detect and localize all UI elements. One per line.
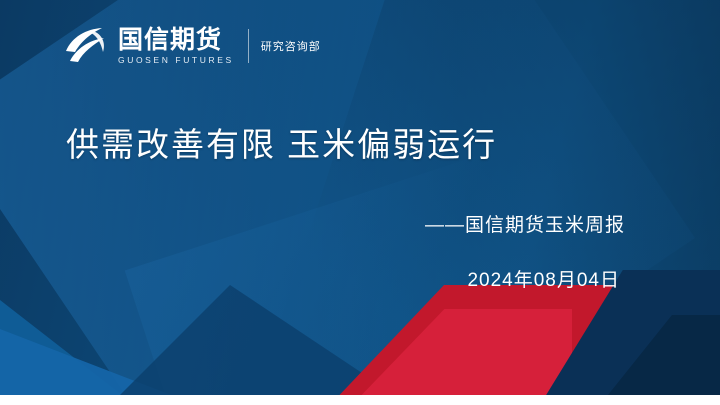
page-subtitle: ——国信期货玉米周报 [425, 210, 625, 237]
guosen-futures-logo-icon [62, 25, 108, 67]
brand-lockup: 国信期货 GUOSEN FUTURES 研究咨询部 [62, 22, 321, 70]
page-title: 供需改善有限 玉米偏弱运行 [66, 118, 497, 166]
brand-wordmark: 国信期货 GUOSEN FUTURES [118, 24, 234, 68]
brand-department: 研究咨询部 [261, 38, 321, 54]
brand-name-cn: 国信期货 [118, 27, 234, 53]
page-date: 2024年08月04日 [467, 265, 620, 292]
brand-name-en: GUOSEN FUTURES [118, 54, 234, 66]
background-bottom-strip [0, 395, 720, 405]
brand-divider [248, 29, 249, 63]
title-slide: 国信期货 GUOSEN FUTURES 研究咨询部 供需改善有限 玉米偏弱运行 … [0, 0, 720, 405]
